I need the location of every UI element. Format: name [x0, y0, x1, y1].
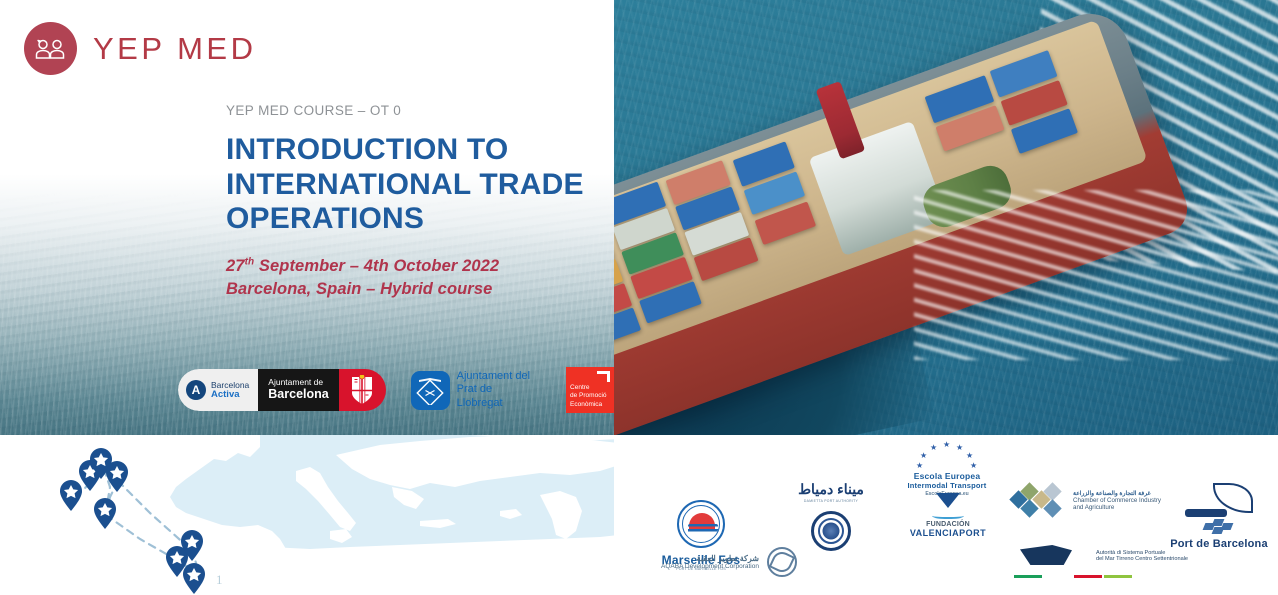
chamber-blocks-icon	[1012, 483, 1066, 517]
partner-aqaba-development: شركة تطوير العقبة AQABA Development Corp…	[634, 547, 824, 577]
sponsor-centre-promocio-economica: Centre de Promoció Econòmica	[566, 367, 614, 413]
chamber-label2: and Agriculture	[1073, 504, 1161, 511]
prat-line2: Prat de Llobregat	[457, 383, 541, 410]
chamber-arabic-label: غرفة التجارة والصناعة والزراعة	[1073, 490, 1161, 497]
sponsor-prat-de-llobregat: Ajuntament del Prat de Llobregat	[411, 370, 541, 410]
barcelona-activa-badge-icon: A	[186, 380, 206, 400]
italian-port-authority-icon	[1014, 541, 1088, 571]
ship-bow-wave	[914, 190, 1278, 360]
valenciaport-mark-icon	[932, 493, 964, 519]
partner-escola-europea: ★ ★ ★ ★ ★ ★ ★ Escola Europea Intermodal …	[882, 441, 1012, 497]
barcelona-shield-icon	[339, 369, 386, 411]
ajuntament-barcelona-logo: Ajuntament de Barcelona	[258, 369, 338, 411]
valenciaport-label2: VALENCIAPORT	[900, 528, 996, 538]
prat-crest-icon	[411, 371, 450, 410]
ajuntament-barcelona-line2: Barcelona	[268, 388, 328, 402]
port-de-barcelona-label: Port de Barcelona	[1160, 538, 1278, 550]
mediterranean-route-map	[0, 435, 614, 595]
map-graphic	[0, 435, 614, 595]
chamber-label: Chamber of Commerce Industry	[1073, 497, 1161, 504]
page-title: INTRODUCTION TO INTERNATIONAL TRADE OPER…	[226, 133, 596, 237]
cpe-line3: Econòmica	[570, 401, 607, 409]
partner-port-de-barcelona: Port de Barcelona	[1160, 483, 1278, 550]
barcelona-activa-logo: A Barcelona Activa	[178, 369, 258, 411]
marseille-fos-seal-icon: ★	[677, 500, 725, 548]
slide-page: YEP MED YEP MED COURSE – OT 0 INTRODUCTI…	[0, 0, 1278, 595]
course-location: Barcelona, Spain – Hybrid course	[226, 278, 596, 302]
people-group-icon	[24, 22, 77, 75]
yep-med-brand: YEP MED	[24, 22, 256, 75]
cpe-corner-icon	[597, 371, 610, 382]
italian-flag-bars-icon	[1014, 575, 1132, 578]
damietta-tagline: DAMIETTA PORT AUTHORITY	[766, 499, 896, 503]
prat-line1: Ajuntament del	[457, 370, 541, 383]
aqaba-label: AQABA Development Corporation	[661, 563, 759, 570]
page-number: 1	[216, 572, 223, 588]
damietta-port-seal-icon	[811, 511, 851, 551]
sponsor-barcelona-activa-ajuntament: A Barcelona Activa Ajuntament de Barcelo…	[178, 369, 386, 411]
partner-damietta-port: ميناء دمياط DAMIETTA PORT AUTHORITY	[766, 481, 896, 551]
partner-fundacion-valenciaport: FUNDACIÓN VALENCIAPORT	[900, 493, 996, 538]
course-dates-location: 27th September – 4th October 2022 Barcel…	[226, 255, 596, 303]
cpe-line2: de Promoció	[570, 392, 607, 400]
sponsor-logo-bar: A Barcelona Activa Ajuntament de Barcelo…	[178, 367, 614, 413]
escola-europea-label2: Intermodal Transport	[882, 481, 1012, 490]
aqaba-arabic-label: شركة تطوير العقبة	[661, 554, 759, 563]
aqaba-swirl-icon	[767, 547, 797, 577]
container-ship-photo	[614, 0, 1278, 435]
eu-stars-icon: ★ ★ ★ ★ ★ ★ ★	[912, 441, 982, 471]
title-slide-panel: YEP MED YEP MED COURSE – OT 0 INTRODUCTI…	[0, 0, 614, 435]
italian-port-label2: del Mar Tirreno Centro Settentrionale	[1096, 556, 1188, 562]
course-dates: 27th September – 4th October 2022	[226, 255, 596, 279]
course-eyebrow: YEP MED COURSE – OT 0	[226, 103, 596, 118]
valenciaport-label: FUNDACIÓN	[900, 521, 996, 528]
title-block: YEP MED COURSE – OT 0 INTRODUCTION TO IN…	[226, 103, 596, 302]
damietta-arabic-label: ميناء دمياط	[766, 481, 896, 498]
port-de-barcelona-diamonds-icon	[1204, 519, 1234, 535]
escola-europea-label: Escola Europea	[882, 471, 1012, 481]
partner-logo-strip: ★ Marseille Fos PORT DE MARSEILLE FOS مي…	[614, 435, 1278, 595]
brand-name: YEP MED	[93, 31, 256, 67]
barcelona-activa-line2: Activa	[211, 390, 249, 400]
cpe-line1: Centre	[570, 384, 607, 392]
port-de-barcelona-icon	[1181, 483, 1257, 519]
